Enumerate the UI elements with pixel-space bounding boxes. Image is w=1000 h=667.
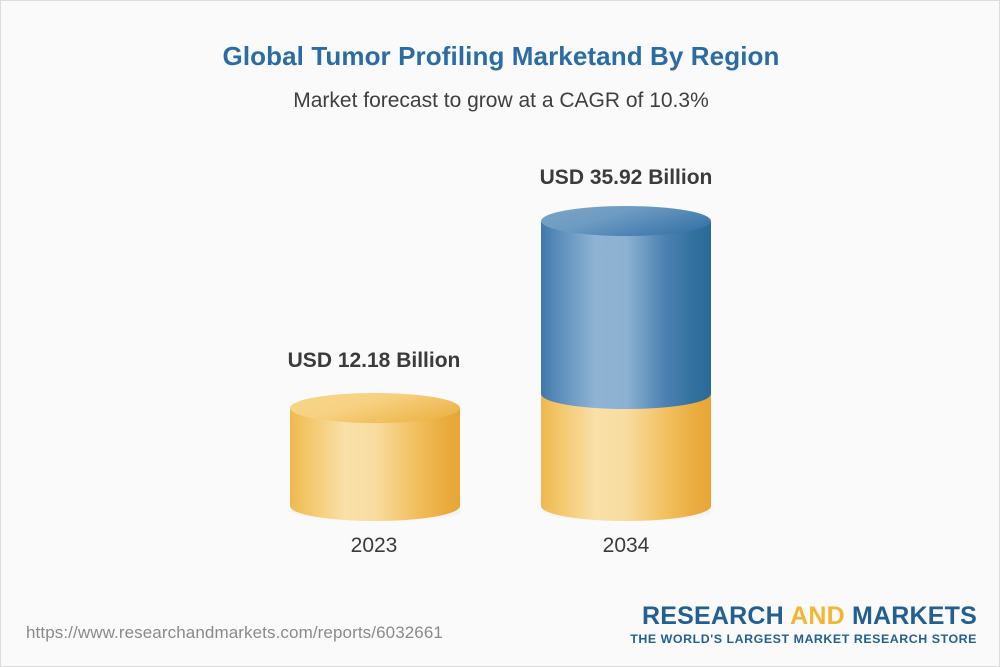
chart-subtitle: Market forecast to grow at a CAGR of 10.… [1,89,1000,113]
chart-canvas: Global Tumor Profiling Marketand By Regi… [0,0,1000,667]
source-url[interactable]: https://www.researchandmarkets.com/repor… [26,623,443,643]
bar-cylinder-2023 [290,393,460,521]
research-and-markets-logo[interactable]: RESEARCH AND MARKETS THE WORLD'S LARGEST… [630,603,977,646]
logo-word-and: AND [790,602,845,630]
chart-title: Global Tumor Profiling Marketand By Regi… [1,41,1000,72]
category-label-2034: 2034 [526,534,726,558]
value-label-2023: USD 12.18 Billion [274,349,474,373]
logo-wordmark: RESEARCH AND MARKETS [630,603,977,629]
category-label-2023: 2023 [274,534,474,558]
value-label-2034: USD 35.92 Billion [526,166,726,190]
logo-word-markets: MARKETS [852,602,977,630]
logo-tagline: THE WORLD'S LARGEST MARKET RESEARCH STOR… [630,632,977,646]
logo-word-research: RESEARCH [642,602,784,630]
bar-cylinder-2034 [541,206,711,521]
